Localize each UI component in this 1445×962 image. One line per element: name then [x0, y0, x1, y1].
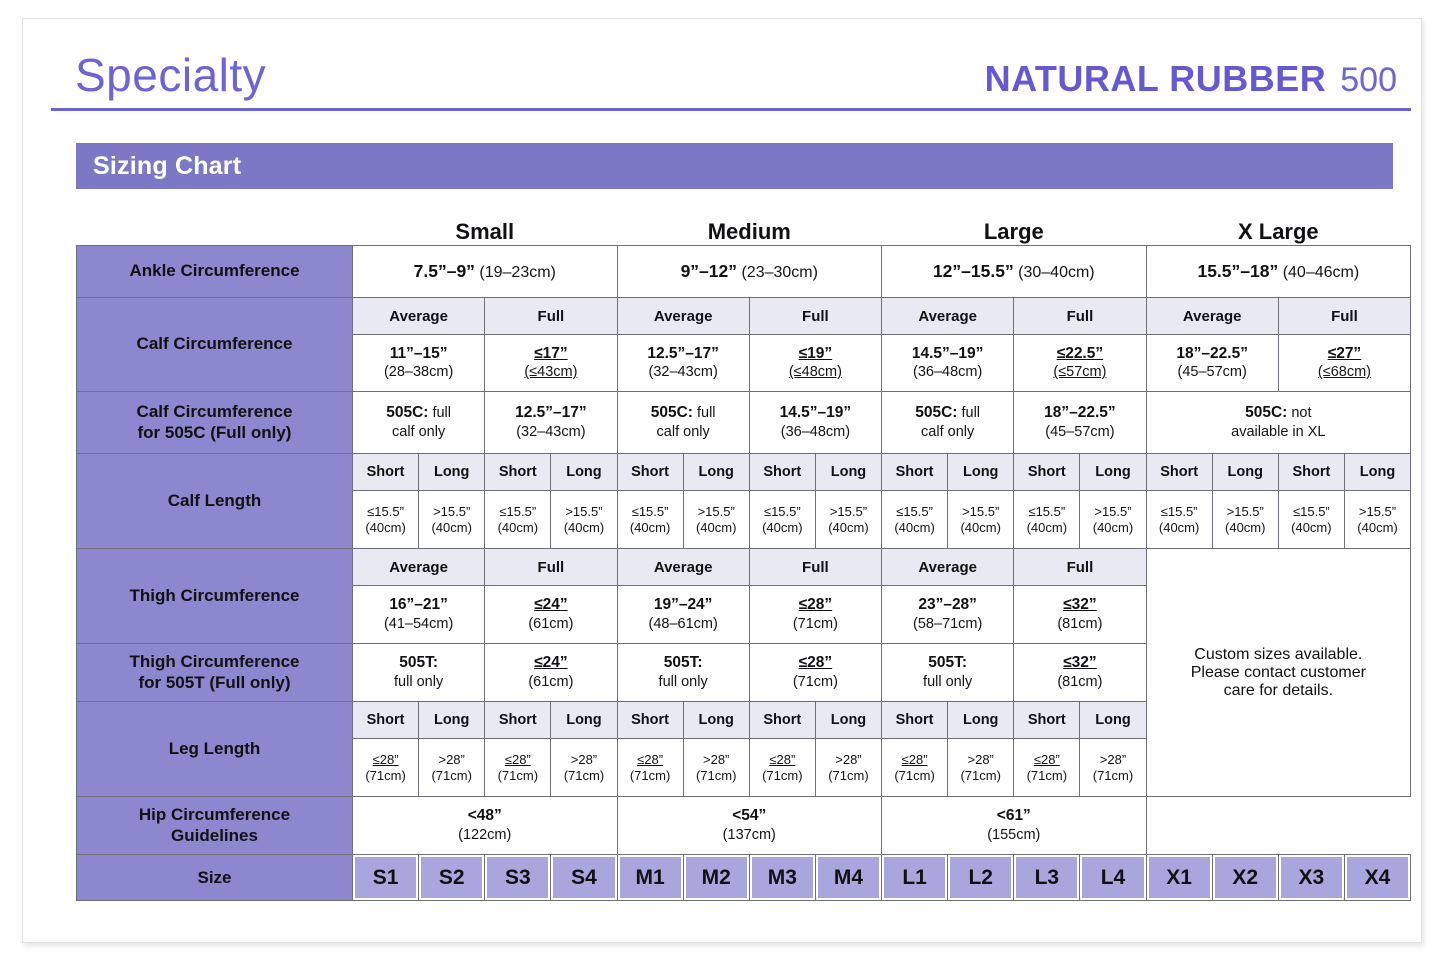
row-hip-circumference: Hip Circumference Guidelines <48”(122cm)…: [77, 797, 1411, 855]
size-chip-m3[interactable]: M3: [749, 855, 815, 901]
calf-length-head-10: Short: [1014, 454, 1080, 491]
thigh-fit-m-average: Average: [617, 549, 749, 586]
size-chip-l3[interactable]: L3: [1014, 855, 1080, 901]
calf-length-head-6: Short: [749, 454, 815, 491]
calf-xl-average: 18”–22.5”(45–57cm): [1146, 335, 1278, 392]
size-chip-s2[interactable]: S2: [419, 855, 485, 901]
calf-length-4: ≤15.5”(40cm): [617, 491, 683, 549]
size-group-header-row: Small Medium Large X Large: [77, 219, 1411, 246]
custom-note-line1: Custom sizes available.: [1194, 646, 1362, 663]
size-group-medium: Medium: [617, 219, 882, 246]
size-group-large: Large: [882, 219, 1147, 246]
thigh-fit-s-average: Average: [353, 549, 485, 586]
calf-s-average: 11”–15”(28–38cm): [353, 335, 485, 392]
calf-length-13: >15.5”(40cm): [1212, 491, 1278, 549]
leg-length-9: >28”(71cm): [948, 739, 1014, 797]
leg-length-head-9: Long: [948, 702, 1014, 739]
thigh505t-s-average: 505T:full only: [353, 644, 485, 702]
leg-length-6: ≤28”(71cm): [749, 739, 815, 797]
row-calf-505c: Calf Circumference for 505C (Full only) …: [77, 392, 1411, 454]
thigh-l-full: ≤32”(81cm): [1014, 586, 1146, 644]
thigh-fit-m-full: Full: [749, 549, 881, 586]
hip-large: <61”(155cm): [882, 797, 1147, 855]
thigh505t-m-full: ≤28”(71cm): [749, 644, 881, 702]
size-chip-m1[interactable]: M1: [617, 855, 683, 901]
calf505c-m-full: 14.5”–19”(36–48cm): [749, 392, 881, 454]
product-number: 500: [1340, 61, 1397, 100]
size-chip-l2[interactable]: L2: [948, 855, 1014, 901]
row-ankle-circumference: Ankle Circumference 7.5”–9” (19–23cm) 9”…: [77, 246, 1411, 298]
row-thigh-fit-header: Thigh Circumference Average Full Average…: [77, 549, 1411, 586]
row-label-ankle: Ankle Circumference: [77, 246, 353, 298]
calf-fit-l-full: Full: [1014, 298, 1146, 335]
thigh505t-l-full: ≤32”(81cm): [1014, 644, 1146, 702]
thigh-s-average: 16”–21”(41–54cm): [353, 586, 485, 644]
size-chip-x3[interactable]: X3: [1278, 855, 1344, 901]
calf-length-head-11: Long: [1080, 454, 1146, 491]
calf-length-head-14: Short: [1278, 454, 1344, 491]
leg-length-head-1: Long: [419, 702, 485, 739]
row-label-leg-length: Leg Length: [77, 702, 353, 797]
size-chip-l4[interactable]: L4: [1080, 855, 1146, 901]
calf-length-head-8: Short: [882, 454, 948, 491]
page-header: Specialty NATURAL RUBBER 500: [51, 19, 1411, 111]
size-chip-x2[interactable]: X2: [1212, 855, 1278, 901]
size-chip-m4[interactable]: M4: [815, 855, 881, 901]
thigh-s-full: ≤24”(61cm): [485, 586, 617, 644]
calf-l-average: 14.5”–19”(36–48cm): [882, 335, 1014, 392]
leg-length-head-5: Long: [683, 702, 749, 739]
calf-m-average: 12.5”–17”(32–43cm): [617, 335, 749, 392]
size-chip-s4[interactable]: S4: [551, 855, 617, 901]
calf-length-15: >15.5”(40cm): [1344, 491, 1410, 549]
calf-l-full: ≤22.5”(≤57cm): [1014, 335, 1146, 392]
calf-length-5: >15.5”(40cm): [683, 491, 749, 549]
leg-length-head-10: Short: [1014, 702, 1080, 739]
calf-length-0: ≤15.5”(40cm): [353, 491, 419, 549]
row-label-calf-length: Calf Length: [77, 454, 353, 549]
calf505c-l-full: 18”–22.5”(45–57cm): [1014, 392, 1146, 454]
calf-fit-xl-average: Average: [1146, 298, 1278, 335]
row-label-size: Size: [77, 855, 353, 901]
calf505c-s-full: 12.5”–17”(32–43cm): [485, 392, 617, 454]
calf-length-head-3: Long: [551, 454, 617, 491]
leg-length-8: ≤28”(71cm): [882, 739, 948, 797]
size-chip-m2[interactable]: M2: [683, 855, 749, 901]
sizing-chart-title: Sizing Chart: [93, 152, 241, 181]
thigh-l-average: 23”–28”(58–71cm): [882, 586, 1014, 644]
calf-length-2: ≤15.5”(40cm): [485, 491, 551, 549]
sizing-table: Small Medium Large X Large Ankle Circumf…: [76, 219, 1411, 901]
calf-length-head-5: Long: [683, 454, 749, 491]
calf-length-7: >15.5”(40cm): [815, 491, 881, 549]
calf-length-head-13: Long: [1212, 454, 1278, 491]
sizing-chart-page: Specialty NATURAL RUBBER 500 Sizing Char…: [22, 18, 1422, 943]
product-identity: NATURAL RUBBER 500: [985, 58, 1397, 100]
row-label-thigh-505t: Thigh Circumference for 505T (Full only): [77, 644, 353, 702]
calf-length-head-12: Short: [1146, 454, 1212, 491]
calf-fit-s-average: Average: [353, 298, 485, 335]
hip-medium: <54”(137cm): [617, 797, 882, 855]
size-chip-s1[interactable]: S1: [353, 855, 419, 901]
calf-length-6: ≤15.5”(40cm): [749, 491, 815, 549]
custom-note-line2: Please contact customer: [1191, 664, 1366, 681]
thigh505t-l-average: 505T:full only: [882, 644, 1014, 702]
hip-small: <48”(122cm): [353, 797, 618, 855]
row-label-thigh-505t-line1: Thigh Circumference: [129, 652, 299, 671]
ankle-medium: 9”–12” (23–30cm): [617, 246, 882, 298]
size-group-small: Small: [353, 219, 618, 246]
ankle-xlarge: 15.5”–18” (40–46cm): [1146, 246, 1411, 298]
row-label-calf-circumference: Calf Circumference: [77, 298, 353, 392]
calf-length-head-9: Long: [948, 454, 1014, 491]
size-chip-l1[interactable]: L1: [882, 855, 948, 901]
product-name: NATURAL RUBBER: [985, 58, 1327, 100]
leg-length-1: >28”(71cm): [419, 739, 485, 797]
leg-length-head-6: Short: [749, 702, 815, 739]
leg-length-11: >28”(71cm): [1080, 739, 1146, 797]
calf-length-1: >15.5”(40cm): [419, 491, 485, 549]
custom-sizes-panel: Custom sizes available. Please contact c…: [1146, 549, 1411, 797]
row-calf-fit-header: Calf Circumference Average Full Average …: [77, 298, 1411, 335]
calf-length-9: >15.5”(40cm): [948, 491, 1014, 549]
row-label-thigh-circumference: Thigh Circumference: [77, 549, 353, 644]
thigh-fit-l-full: Full: [1014, 549, 1146, 586]
row-label-hip-line1: Hip Circumference: [139, 805, 290, 824]
calf-fit-s-full: Full: [485, 298, 617, 335]
leg-length-7: >28”(71cm): [815, 739, 881, 797]
row-size-codes: Size S1 S2 S3 S4 M1 M2 M3 M4 L1 L2 L3 L4…: [77, 855, 1411, 901]
calf-length-head-1: Long: [419, 454, 485, 491]
calf-length-head-7: Long: [815, 454, 881, 491]
calf-length-head-2: Short: [485, 454, 551, 491]
row-label-thigh-505t-line2: for 505T (Full only): [138, 673, 290, 692]
leg-length-head-0: Short: [353, 702, 419, 739]
leg-length-head-11: Long: [1080, 702, 1146, 739]
custom-note-line3: care for details.: [1224, 682, 1333, 699]
calf505c-xl-note: 505C: notavailable in XL: [1146, 392, 1411, 454]
leg-length-4: ≤28”(71cm): [617, 739, 683, 797]
leg-length-head-8: Short: [882, 702, 948, 739]
thigh505t-s-full: ≤24”(61cm): [485, 644, 617, 702]
calf-length-head-0: Short: [353, 454, 419, 491]
calf-fit-xl-full: Full: [1278, 298, 1410, 335]
row-label-calf-505c-line2: for 505C (Full only): [138, 423, 292, 442]
calf-length-3: >15.5”(40cm): [551, 491, 617, 549]
calf-length-head-4: Short: [617, 454, 683, 491]
size-chip-x1[interactable]: X1: [1146, 855, 1212, 901]
calf-length-14: ≤15.5”(40cm): [1278, 491, 1344, 549]
row-calf-length-header: Calf Length Short Long Short Long Short …: [77, 454, 1411, 491]
leg-length-head-7: Long: [815, 702, 881, 739]
row-label-calf-505c: Calf Circumference for 505C (Full only): [77, 392, 353, 454]
sizing-chart-banner: Sizing Chart: [76, 143, 1393, 189]
calf-length-head-15: Long: [1344, 454, 1410, 491]
spacer-cell: [77, 219, 353, 246]
size-chip-s3[interactable]: S3: [485, 855, 551, 901]
leg-length-head-4: Short: [617, 702, 683, 739]
leg-length-3: >28”(71cm): [551, 739, 617, 797]
leg-length-head-3: Long: [551, 702, 617, 739]
thigh-m-average: 19”–24”(48–61cm): [617, 586, 749, 644]
thigh-fit-s-full: Full: [485, 549, 617, 586]
leg-length-0: ≤28”(71cm): [353, 739, 419, 797]
row-label-hip-line2: Guidelines: [171, 826, 258, 845]
calf-length-11: >15.5”(40cm): [1080, 491, 1146, 549]
thigh-m-full: ≤28”(71cm): [749, 586, 881, 644]
thigh505t-m-average: 505T:full only: [617, 644, 749, 702]
row-label-hip: Hip Circumference Guidelines: [77, 797, 353, 855]
calf505c-l-average: 505C: fullcalf only: [882, 392, 1014, 454]
leg-length-head-2: Short: [485, 702, 551, 739]
calf-fit-m-average: Average: [617, 298, 749, 335]
calf-fit-m-full: Full: [749, 298, 881, 335]
thigh-fit-l-average: Average: [882, 549, 1014, 586]
calf505c-s-average: 505C: fullcalf only: [353, 392, 485, 454]
calf-length-12: ≤15.5”(40cm): [1146, 491, 1212, 549]
leg-length-2: ≤28”(71cm): [485, 739, 551, 797]
calf-fit-l-average: Average: [882, 298, 1014, 335]
leg-length-10: ≤28”(71cm): [1014, 739, 1080, 797]
leg-length-5: >28”(71cm): [683, 739, 749, 797]
size-chip-x4[interactable]: X4: [1344, 855, 1410, 901]
calf-xl-full: ≤27”(≤68cm): [1278, 335, 1410, 392]
brand-title: Specialty: [75, 48, 266, 102]
sizing-table-container: Small Medium Large X Large Ankle Circumf…: [76, 219, 1410, 901]
calf505c-m-average: 505C: fullcalf only: [617, 392, 749, 454]
ankle-small: 7.5”–9” (19–23cm): [353, 246, 618, 298]
calf-s-full: ≤17”(≤43cm): [485, 335, 617, 392]
size-group-xlarge: X Large: [1146, 219, 1411, 246]
custom-sizes-note: Custom sizes available. Please contact c…: [1147, 646, 1411, 700]
row-label-calf-505c-line1: Calf Circumference: [137, 402, 293, 421]
calf-length-8: ≤15.5”(40cm): [882, 491, 948, 549]
calf-m-full: ≤19”(≤48cm): [749, 335, 881, 392]
ankle-large: 12”–15.5” (30–40cm): [882, 246, 1147, 298]
calf-length-10: ≤15.5”(40cm): [1014, 491, 1080, 549]
